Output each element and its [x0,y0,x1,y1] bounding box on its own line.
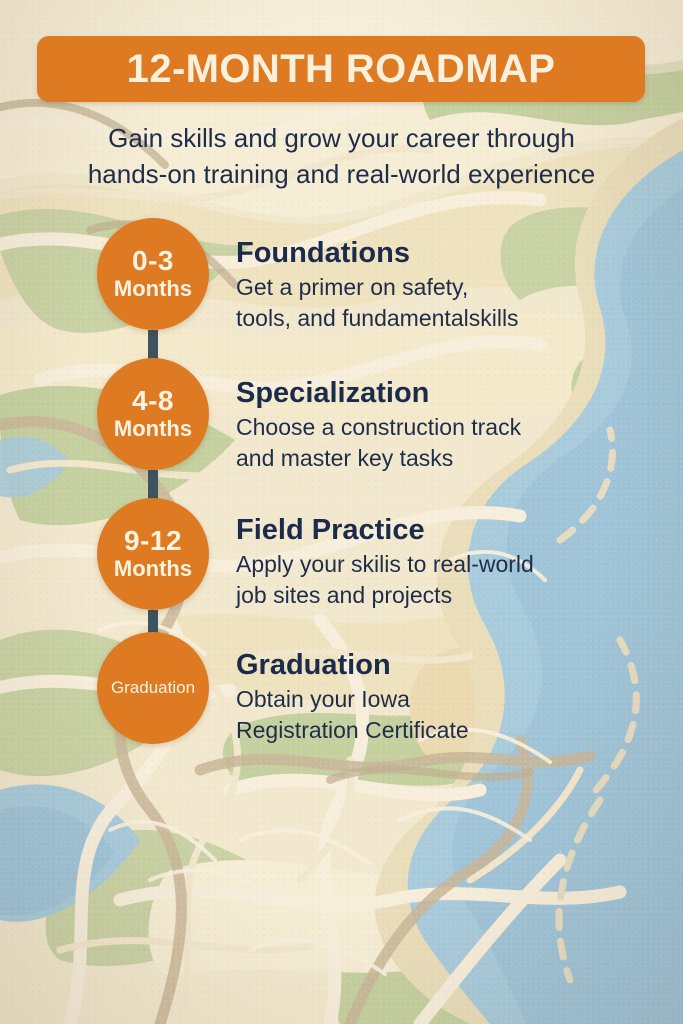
milestone-desc-1-line-1: Get a primer on safety, [236,272,656,303]
milestone-desc-4-line-1: Obtain your Iowa [236,684,656,715]
badge-range-2: 4-8 [132,386,174,416]
badge-unit-3: Months [114,556,192,582]
milestone-desc-4: Obtain your Iowa Registration Certificat… [236,684,656,746]
milestone-desc-1: Get a primer on safety, tools, and funda… [236,272,656,334]
milestone-content-4: Graduation Obtain your Iowa Registration… [236,648,656,746]
milestone-desc-2: Choose a construction track and master k… [236,412,656,474]
timeline: 0-3 Months Foundations Get a primer on s… [0,0,683,1024]
badge-unit-4: Graduation [111,678,195,698]
badge-unit-1: Months [114,276,192,302]
milestone-desc-3-line-1: Apply your skilis to real-world [236,549,656,580]
milestone-badge-2[interactable]: 4-8 Months [97,358,209,470]
milestone-desc-2-line-2: and master key tasks [236,443,656,474]
milestone-content-2: Specialization Choose a construction tra… [236,376,656,474]
milestone-desc-4-line-2: Registration Certificate [236,715,656,746]
milestone-desc-3: Apply your skilis to real-world job site… [236,549,656,611]
milestone-badge-3[interactable]: 9-12 Months [97,498,209,610]
milestone-title-3: Field Practice [236,513,656,547]
milestone-desc-3-line-2: job sites and projects [236,580,656,611]
milestone-desc-1-line-2: tools, and fundamentalskills [236,303,656,334]
roadmap-infographic: 12-MONTH ROADMAP Gain skills and grow yo… [0,0,683,1024]
milestone-title-1: Foundations [236,236,656,270]
milestone-title-4: Graduation [236,648,656,682]
milestone-badge-1[interactable]: 0-3 Months [97,218,209,330]
milestone-content-1: Foundations Get a primer on safety, tool… [236,236,656,334]
milestone-title-2: Specialization [236,376,656,410]
milestone-content-3: Field Practice Apply your skilis to real… [236,513,656,611]
milestone-badge-4[interactable]: Graduation [97,632,209,744]
badge-unit-2: Months [114,416,192,442]
badge-range-1: 0-3 [132,246,174,276]
badge-range-3: 9-12 [124,526,182,556]
milestone-desc-2-line-1: Choose a construction track [236,412,656,443]
